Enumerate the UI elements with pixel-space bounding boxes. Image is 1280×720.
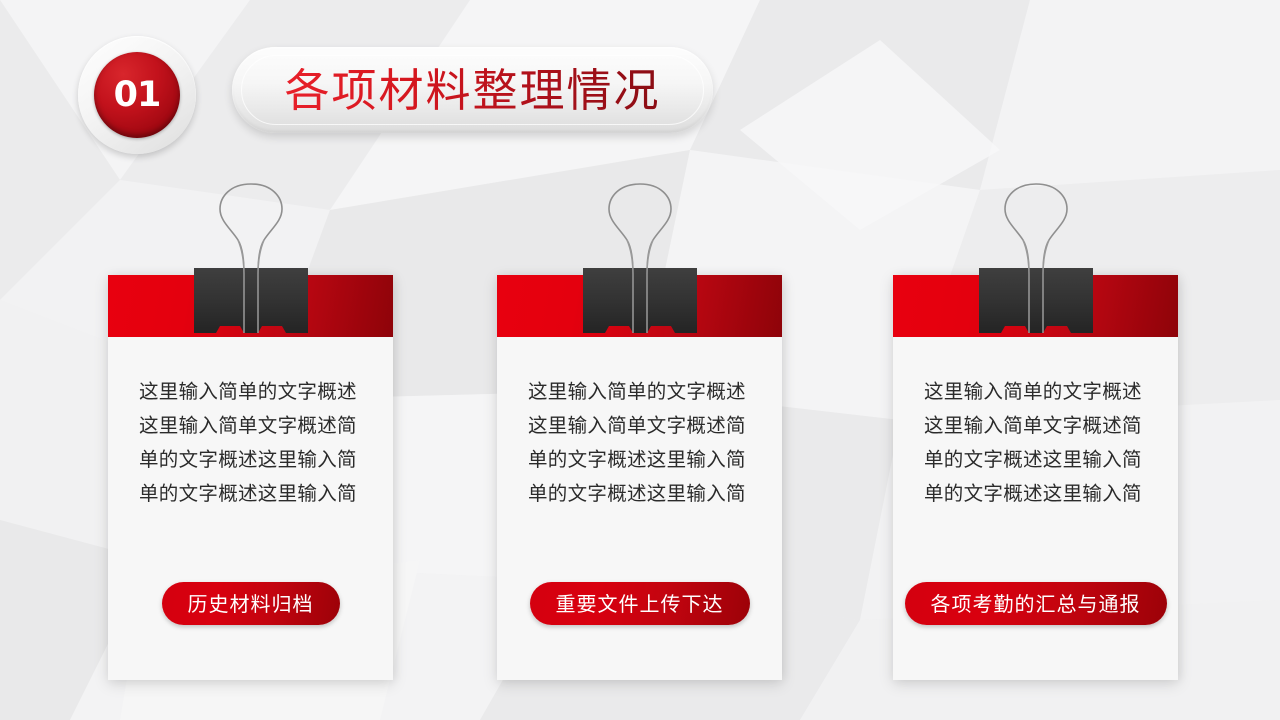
card-description: 这里输入简单的文字概述这里输入简单文字概述简单的文字概述这里输入简单的文字概述这… (924, 375, 1152, 511)
section-number-badge-inner: 01 (94, 52, 180, 138)
section-title-pill: 各项材料整理情况 (232, 47, 713, 133)
slide-header: 01 各项材料整理情况 (0, 0, 1280, 160)
content-card[interactable]: 这里输入简单的文字概述这里输入简单文字概述简单的文字概述这里输入简单的文字概述这… (497, 275, 782, 680)
section-number-badge: 01 (78, 36, 196, 154)
card-body: 这里输入简单的文字概述这里输入简单文字概述简单的文字概述这里输入简单的文字概述这… (497, 337, 782, 680)
card-body: 这里输入简单的文字概述这里输入简单文字概述简单的文字概述这里输入简单的文字概述这… (108, 337, 393, 680)
card-description: 这里输入简单的文字概述这里输入简单文字概述简单的文字概述这里输入简单的文字概述这… (528, 375, 756, 511)
content-card[interactable]: 这里输入简单的文字概述这里输入简单文字概述简单的文字概述这里输入简单的文字概述这… (108, 275, 393, 680)
page-title: 各项材料整理情况 (284, 68, 660, 113)
content-card[interactable]: 这里输入简单的文字概述这里输入简单文字概述简单的文字概述这里输入简单的文字概述这… (893, 275, 1178, 680)
card-header-band (893, 275, 1178, 337)
card-description: 这里输入简单的文字概述这里输入简单文字概述简单的文字概述这里输入简单的文字概述这… (139, 375, 367, 511)
card-action-button-label: 重要文件上传下达 (556, 594, 724, 614)
card-action-button-label: 各项考勤的汇总与通报 (931, 594, 1141, 614)
card-header-band (108, 275, 393, 337)
card-action-button-label: 历史材料归档 (188, 594, 314, 614)
section-number-label: 01 (114, 78, 161, 113)
card-body: 这里输入简单的文字概述这里输入简单文字概述简单的文字概述这里输入简单的文字概述这… (893, 337, 1178, 680)
slide-canvas: 01 各项材料整理情况 这里输入简单的文字概述这里输入简单文字概述简单的文字概述… (0, 0, 1280, 720)
card-header-band (497, 275, 782, 337)
card-action-button[interactable]: 历史材料归档 (162, 582, 340, 625)
card-action-button[interactable]: 各项考勤的汇总与通报 (905, 582, 1167, 625)
card-action-button[interactable]: 重要文件上传下达 (530, 582, 750, 625)
